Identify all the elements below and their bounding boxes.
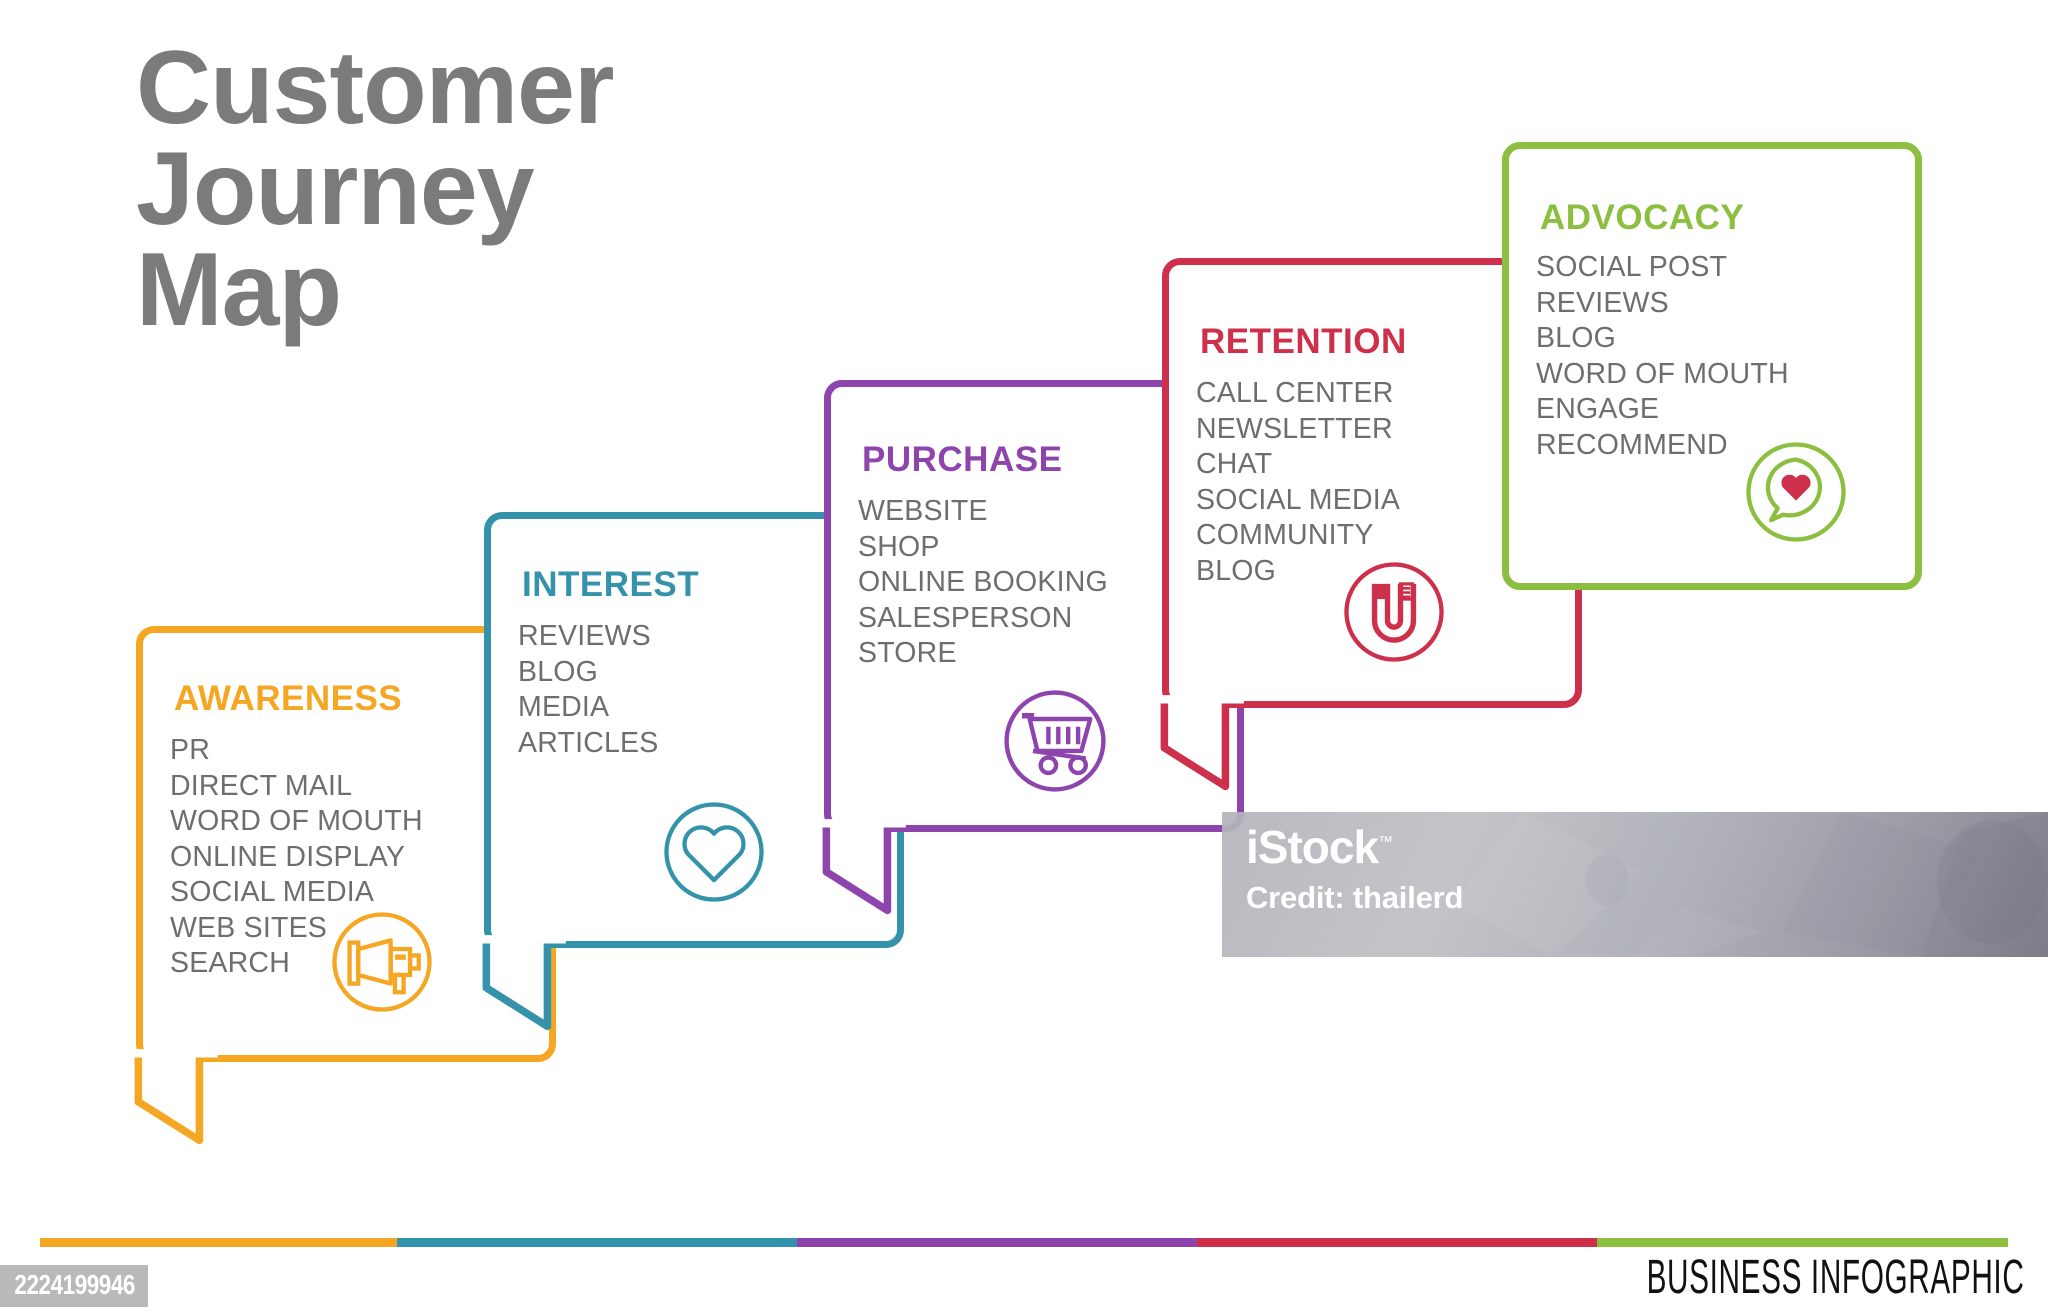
list-item: SALESPERSON: [858, 601, 1108, 637]
stage-title-awareness: AWARENESS: [174, 679, 402, 719]
list-item: CHAT: [1196, 447, 1400, 483]
heart-icon: [660, 798, 768, 906]
rule-segment-awareness: [40, 1238, 397, 1247]
stage-title-interest: INTEREST: [522, 565, 699, 605]
list-item: SOCIAL MEDIA: [1196, 483, 1400, 519]
list-item: REVIEWS: [518, 619, 658, 655]
card-tail-retention: [1156, 696, 1248, 788]
trademark-icon: ™: [1378, 834, 1393, 851]
stage-list-purchase: WEBSITE SHOP ONLINE BOOKING SALESPERSON …: [858, 494, 1108, 672]
list-item: REVIEWS: [1536, 286, 1789, 322]
istock-brand: iStock™: [1246, 824, 1463, 870]
watermark-credit: Credit: thailerd: [1246, 880, 1463, 916]
list-item: ONLINE BOOKING: [858, 565, 1108, 601]
card-tail-awareness: [130, 1050, 222, 1142]
megaphone-icon: [328, 908, 436, 1016]
speech-bubble-heart-icon: [1742, 438, 1850, 546]
infographic-canvas: Customer Journey Map AWARENESS PR DIRECT…: [0, 0, 2048, 1316]
card-tail-interest: [478, 936, 570, 1028]
rule-segment-retention: [1197, 1238, 1597, 1247]
card-tail-purchase: [818, 820, 910, 912]
istock-watermark: iStock™ Credit: thailerd: [1222, 812, 2048, 957]
list-item: NEWSLETTER: [1196, 412, 1400, 448]
list-item: WORD OF MOUTH: [170, 804, 423, 840]
page-title: Customer Journey Map: [136, 38, 836, 341]
list-item: SOCIAL POST: [1536, 250, 1789, 286]
stage-list-retention: CALL CENTER NEWSLETTER CHAT SOCIAL MEDIA…: [1196, 376, 1400, 589]
list-item: STORE: [858, 636, 1108, 672]
stage-title-retention: RETENTION: [1200, 322, 1407, 362]
stage-title-purchase: PURCHASE: [862, 440, 1062, 480]
list-item: ARTICLES: [518, 726, 658, 762]
stage-list-interest: REVIEWS BLOG MEDIA ARTICLES: [518, 619, 658, 761]
list-item: ONLINE DISPLAY: [170, 840, 423, 876]
list-item: COMMUNITY: [1196, 518, 1400, 554]
rule-segment-purchase: [797, 1238, 1197, 1247]
asset-id-badge: 2224199946: [0, 1265, 148, 1307]
list-item: RECOMMEND: [1536, 428, 1789, 464]
list-item: SHOP: [858, 530, 1108, 566]
list-item: CALL CENTER: [1196, 376, 1400, 412]
list-item: BLOG: [1536, 321, 1789, 357]
color-rule: [40, 1238, 2008, 1247]
footer-caption: BUSINESS INFOGRAPHIC: [1646, 1250, 2024, 1305]
list-item: SOCIAL MEDIA: [170, 875, 423, 911]
list-item: ENGAGE: [1536, 392, 1789, 428]
stage-title-advocacy: ADVOCACY: [1540, 198, 1744, 238]
stage-list-advocacy: SOCIAL POST REVIEWS BLOG WORD OF MOUTH E…: [1536, 250, 1789, 463]
shopping-cart-icon: [1000, 686, 1110, 796]
list-item: WORD OF MOUTH: [1536, 357, 1789, 393]
watermark-text: iStock™ Credit: thailerd: [1246, 824, 1463, 916]
list-item: MEDIA: [518, 690, 658, 726]
list-item: BLOG: [518, 655, 658, 691]
list-item: PR: [170, 733, 423, 769]
list-item: WEBSITE: [858, 494, 1108, 530]
list-item: DIRECT MAIL: [170, 769, 423, 805]
magnet-icon: [1340, 558, 1448, 666]
istock-brand-label: iStock: [1246, 821, 1378, 873]
rule-segment-interest: [397, 1238, 797, 1247]
rule-segment-advocacy: [1597, 1238, 2008, 1247]
